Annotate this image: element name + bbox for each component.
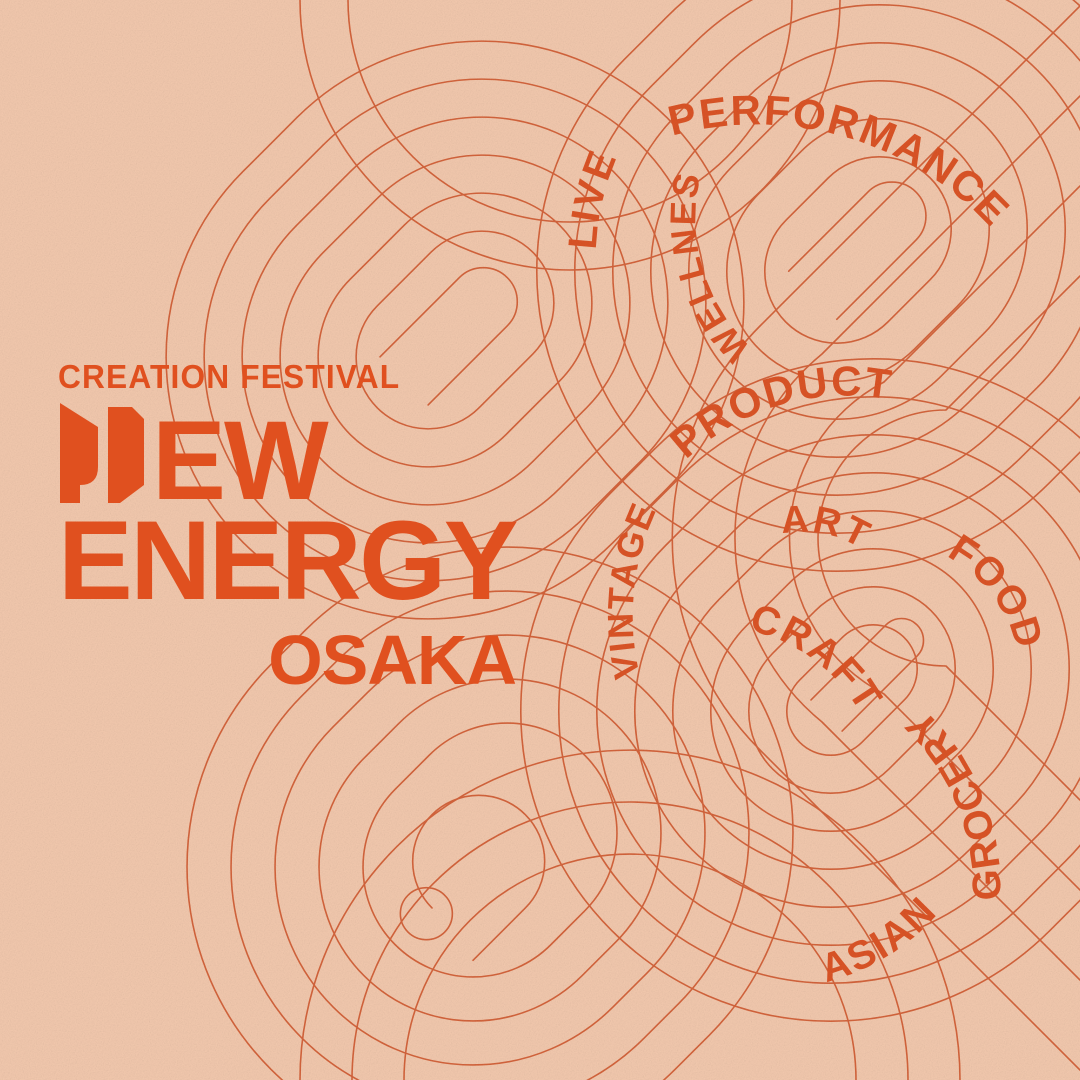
category-label-product: PRODUCT <box>661 357 896 466</box>
category-label-art: ART <box>780 498 878 557</box>
title-city-osaka: OSAKA <box>58 625 528 695</box>
poster-canvas: LIVE PERFORMANCE WELLNESS VINTAGE PRODUC… <box>0 0 1080 1080</box>
kicker-text: CREATION FESTIVAL <box>58 360 509 393</box>
title-word-energy: ENERGY <box>58 507 528 615</box>
title-line-new: EW <box>58 401 528 505</box>
logo-n-glyph-icon <box>58 401 150 505</box>
title-word-ew: EW <box>152 413 327 509</box>
category-label-asian: ASIAN <box>815 888 945 991</box>
title-block: CREATION FESTIVAL EW ENERGY OSAKA <box>58 360 528 695</box>
category-label-food: FOOD <box>941 526 1051 654</box>
category-label-grocery: GROCERY <box>897 700 1010 900</box>
category-label-craft: CRAFT <box>745 596 890 719</box>
category-label-vintage: VINTAGE <box>600 496 665 682</box>
category-label-wellness: WELLNESS <box>0 0 757 370</box>
category-label-performance: PERFORMANCE <box>664 86 1020 235</box>
category-label-live: LIVE <box>561 144 626 251</box>
